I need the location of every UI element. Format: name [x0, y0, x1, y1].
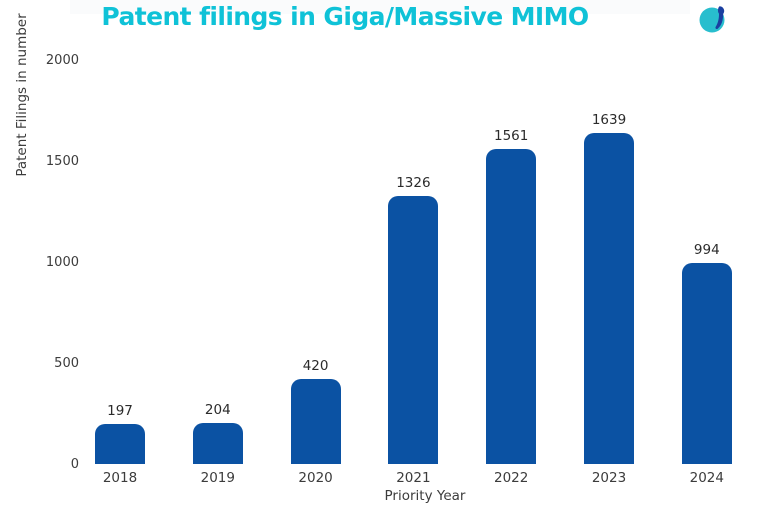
bar[interactable] — [193, 423, 243, 464]
bar[interactable] — [584, 133, 634, 464]
page-title: Patent filings in Giga/Massive MIMO — [0, 2, 690, 32]
x-axis-tick-label: 2018 — [74, 470, 166, 486]
bar[interactable] — [682, 263, 732, 464]
x-axis-tick-label: 2020 — [270, 470, 362, 486]
y-axis-tick-label: 2000 — [19, 54, 79, 67]
bar-value-label: 420 — [275, 359, 357, 374]
bar-group: 1972018 — [95, 60, 145, 464]
y-axis-tick-label: 1000 — [19, 256, 79, 269]
y-axis-tick-label: 0 — [19, 458, 79, 471]
bar[interactable] — [95, 424, 145, 464]
x-axis-tick-label: 2021 — [367, 470, 459, 486]
bar-chart: Patent filings in Giga/Massive MIMO Pate… — [0, 0, 760, 512]
bar[interactable] — [486, 149, 536, 464]
bar-value-label: 197 — [79, 404, 161, 419]
x-axis-tick-label: 2023 — [563, 470, 655, 486]
bar-value-label: 1639 — [568, 113, 650, 128]
bar-group: 16392023 — [584, 60, 634, 464]
x-axis-tick-label: 2022 — [465, 470, 557, 486]
bar[interactable] — [291, 379, 341, 464]
bar-group: 9942024 — [682, 60, 732, 464]
x-axis-tick-label: 2019 — [172, 470, 264, 486]
brand-logo-icon — [697, 2, 731, 36]
bar-value-label: 1561 — [470, 129, 552, 144]
bar-group: 15612022 — [486, 60, 536, 464]
plot-area: 0500100015002000 19720182042019420202013… — [95, 60, 755, 464]
bar-value-label: 994 — [666, 243, 748, 258]
y-axis-tick-label: 1500 — [19, 155, 79, 168]
x-axis-title: Priority Year — [95, 488, 755, 504]
bar-value-label: 204 — [177, 403, 259, 418]
bar-group: 2042019 — [193, 60, 243, 464]
y-axis-tick-label: 500 — [19, 357, 79, 370]
bar-value-label: 1326 — [372, 176, 454, 191]
bar-group: 4202020 — [291, 60, 341, 464]
bar-group: 13262021 — [388, 60, 438, 464]
bar[interactable] — [388, 196, 438, 464]
x-axis-tick-label: 2024 — [661, 470, 753, 486]
